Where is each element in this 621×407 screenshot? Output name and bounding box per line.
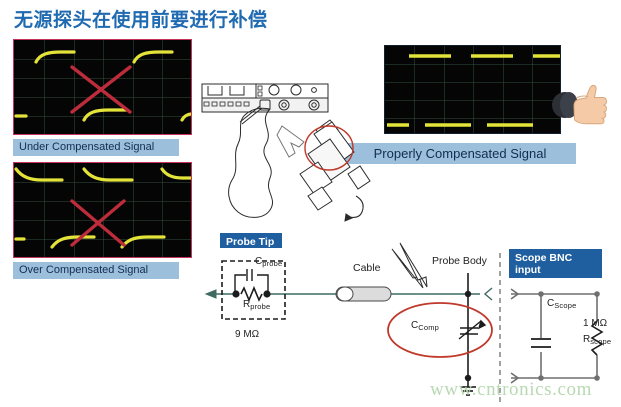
label-c-comp: CComp: [411, 320, 439, 332]
caption-under-compensated: Under Compensated Signal: [13, 139, 179, 156]
scope-screen-properly-compensated: [384, 45, 561, 134]
label-9-mohm: 9 MΩ: [235, 329, 259, 340]
label-r-scope: Rscope: [583, 334, 611, 346]
waveform-properly-compensated: [385, 46, 561, 134]
red-ellipse-icon: [388, 303, 492, 357]
oscilloscope-probe-illustration: [196, 78, 376, 228]
label-c-scope: CScope: [547, 298, 577, 310]
label-probe-body: Probe Body: [432, 255, 487, 267]
label-1-mohm: 1 MΩ: [583, 318, 607, 329]
thumbs-up-icon: [551, 72, 611, 128]
label-cable: Cable: [353, 262, 380, 274]
red-cross-icon: [14, 40, 192, 135]
watermark: www.cntronics.com: [430, 379, 592, 401]
badge-probe-tip: Probe Tip: [220, 233, 282, 248]
caption-properly-compensated: Properly Compensated Signal: [344, 143, 576, 164]
label-c-probe: Cprobe: [255, 256, 282, 268]
badge-scope-bnc-input: Scope BNC input: [509, 249, 602, 278]
scope-screen-under-compensated: [13, 39, 192, 135]
page-title: 无源探头在使用前要进行补偿: [14, 5, 268, 32]
label-r-probe: Rprobe: [243, 299, 270, 311]
